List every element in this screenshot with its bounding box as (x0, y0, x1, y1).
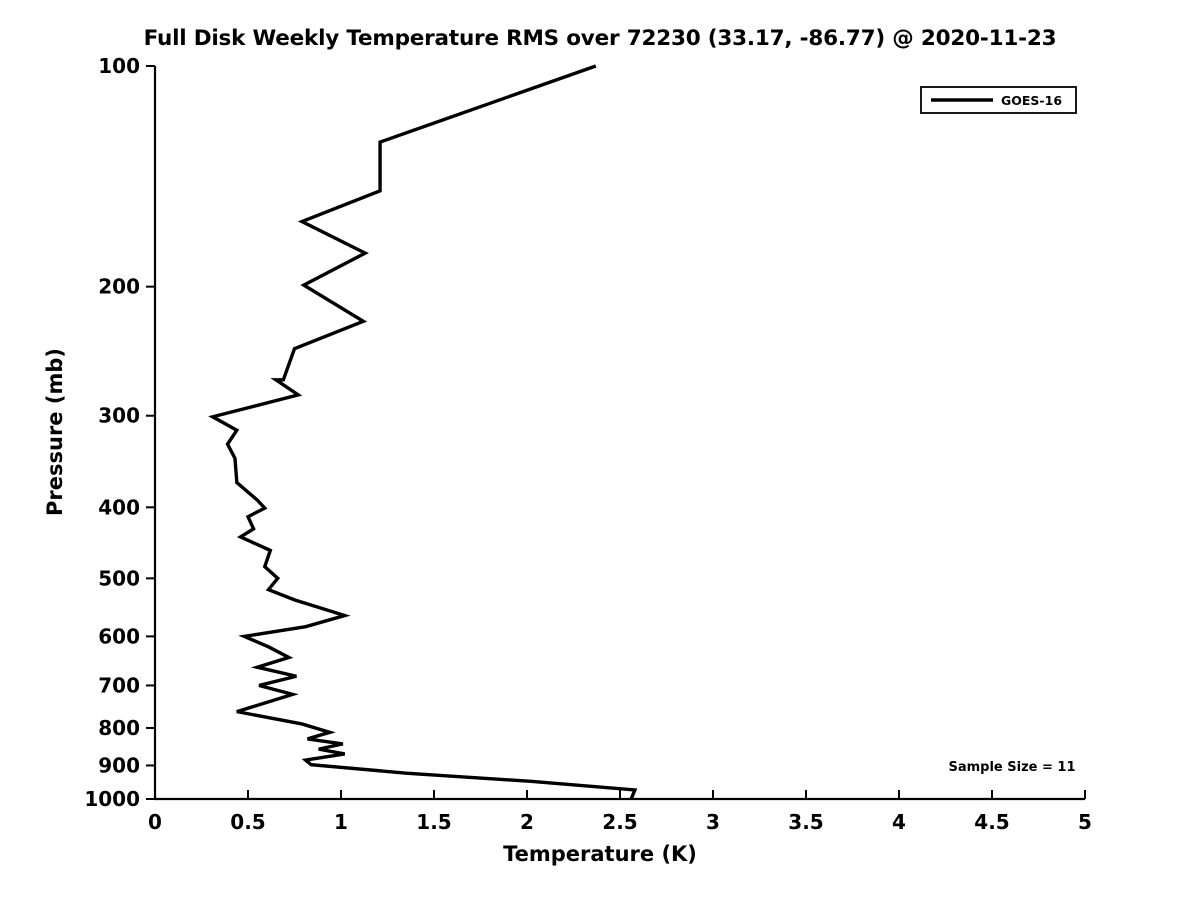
axes-spines (155, 66, 1085, 799)
x-ticklabel-4: 4 (892, 810, 906, 834)
y-axis-tickmarks (146, 66, 155, 799)
sample-size-annotation: Sample Size = 11 (948, 760, 1075, 775)
y-ticklabel-500: 500 (98, 566, 140, 590)
x-ticklabel-0: 0 (148, 810, 162, 834)
x-axis-tickmarks (155, 790, 1085, 799)
x-ticklabel-4.5: 4.5 (974, 810, 1009, 834)
y-axis-label: Pressure (mb) (43, 348, 67, 516)
y-ticklabel-800: 800 (98, 716, 140, 740)
y-ticklabel-1000: 1000 (84, 787, 140, 811)
x-ticklabel-1.5: 1.5 (416, 810, 451, 834)
x-ticklabel-5: 5 (1078, 810, 1092, 834)
y-axis-ticklabels: 1002003004005006007008009001000 (84, 54, 140, 811)
y-ticklabel-400: 400 (98, 495, 140, 519)
y-ticklabel-700: 700 (98, 673, 140, 697)
x-ticklabel-2.5: 2.5 (602, 810, 637, 834)
data-series-layer (213, 66, 635, 799)
x-ticklabel-0.5: 0.5 (230, 810, 265, 834)
temperature-rms-profile-plot: 1002003004005006007008009001000 00.511.5… (0, 0, 1200, 900)
y-ticklabel-100: 100 (98, 54, 140, 78)
y-ticklabel-300: 300 (98, 404, 140, 428)
x-ticklabel-1: 1 (334, 810, 348, 834)
x-axis-label: Temperature (K) (503, 842, 697, 866)
y-ticklabel-600: 600 (98, 624, 140, 648)
y-ticklabel-200: 200 (98, 275, 140, 299)
series-line-goes-16 (213, 66, 635, 799)
x-ticklabel-3.5: 3.5 (788, 810, 823, 834)
x-ticklabel-2: 2 (520, 810, 534, 834)
legend-label-goes-16: GOES-16 (1001, 93, 1062, 108)
legend[interactable]: GOES-16 (921, 87, 1076, 113)
figure-canvas: Full Disk Weekly Temperature RMS over 72… (0, 0, 1200, 900)
x-ticklabel-3: 3 (706, 810, 720, 834)
y-ticklabel-900: 900 (98, 753, 140, 777)
x-axis-ticklabels: 00.511.522.533.544.55 (148, 810, 1092, 834)
